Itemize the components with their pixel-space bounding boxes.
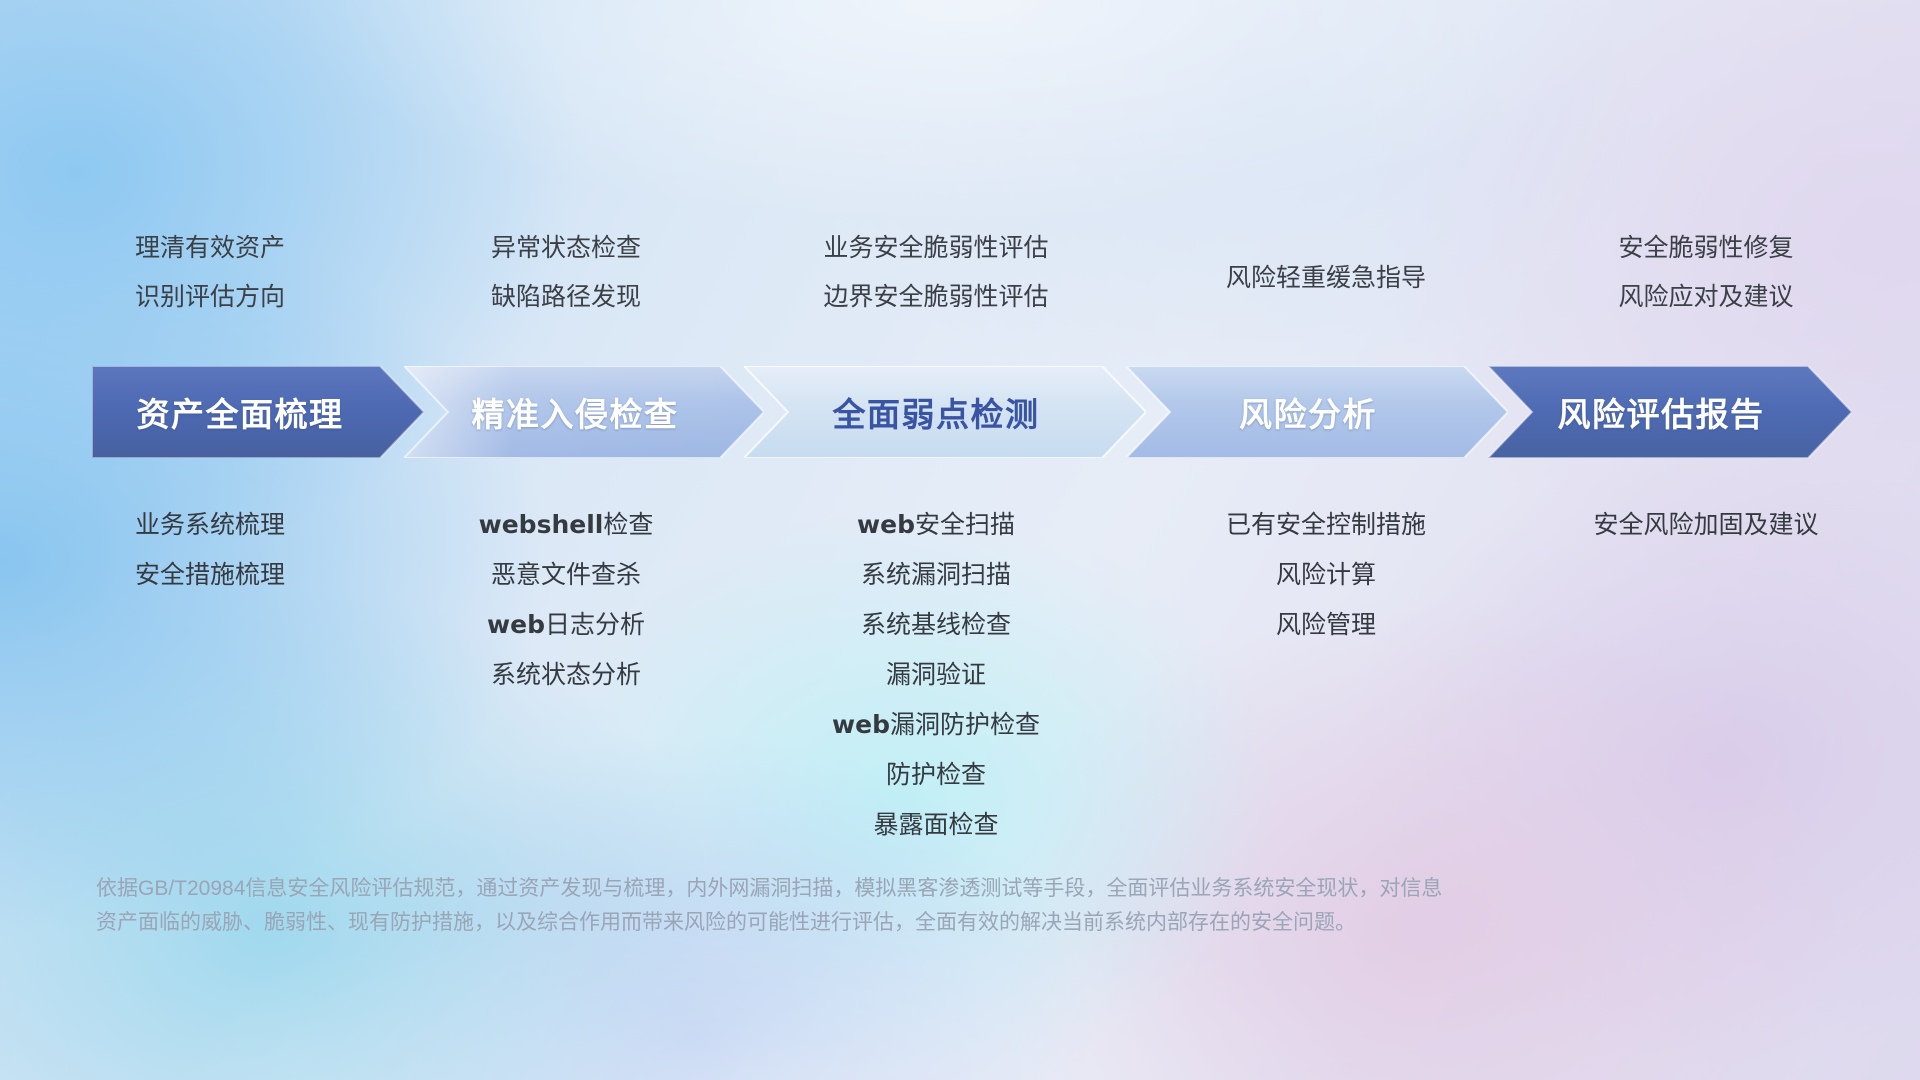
top-label: 异常状态检查 <box>396 224 736 273</box>
bottom-labels-stage-3: web安全扫描 系统漏洞扫描 系统基线检查 漏洞验证 web漏洞防护检查 防护检… <box>736 500 1136 850</box>
top-label: 边界安全脆弱性评估 <box>736 273 1136 322</box>
top-labels-stage-2: 异常状态检查 缺陷路径发现 <box>396 224 736 322</box>
list-item: 漏洞验证 <box>736 650 1136 700</box>
list-item: 系统漏洞扫描 <box>736 550 1136 600</box>
stage-chevron-3[interactable]: 全面弱点检测 <box>744 366 1146 458</box>
list-item: 防护检查 <box>736 750 1136 800</box>
process-diagram: 理清有效资产 识别评估方向 异常状态检查 缺陷路径发现 业务安全脆弱性评估 边界… <box>0 0 1920 1080</box>
top-labels-stage-1: 理清有效资产 识别评估方向 <box>24 224 396 322</box>
top-label: 识别评估方向 <box>24 273 396 322</box>
list-item: 风险计算 <box>1136 550 1516 600</box>
stage-title: 精准入侵检查 <box>472 388 679 436</box>
list-item: web漏洞防护检查 <box>736 700 1136 750</box>
bottom-labels-stage-5: 安全风险加固及建议 <box>1516 500 1896 550</box>
stage-title: 风险分析 <box>1239 388 1377 436</box>
bottom-label-row: 业务系统梳理 安全措施梳理 webshell检查 恶意文件查杀 web日志分析 … <box>0 500 1920 850</box>
stage-chevron-5[interactable]: 风险评估报告 <box>1488 366 1852 458</box>
list-item: 风险管理 <box>1136 600 1516 650</box>
top-labels-stage-4: 风险轻重缓急指导 <box>1136 224 1516 322</box>
top-label: 缺陷路径发现 <box>396 273 736 322</box>
top-labels-stage-5: 安全脆弱性修复 风险应对及建议 <box>1516 224 1896 322</box>
stage-title: 风险评估报告 <box>1558 388 1765 436</box>
list-item: web安全扫描 <box>736 500 1136 550</box>
stage-chevron-1[interactable]: 资产全面梳理 <box>92 366 424 458</box>
bottom-labels-stage-2: webshell检查 恶意文件查杀 web日志分析 系统状态分析 <box>396 500 736 700</box>
footer-line: 资产面临的威胁、脆弱性、现有防护措施，以及综合作用而带来风险的可能性进行评估，全… <box>96 906 1656 940</box>
stage-chevron-2[interactable]: 精准入侵检查 <box>404 366 764 458</box>
top-label: 风险轻重缓急指导 <box>1136 254 1516 303</box>
footer-description: 依据GB/T20984信息安全风险评估规范，通过资产发现与梳理，内外网漏洞扫描，… <box>96 872 1656 940</box>
stage-chevron-4[interactable]: 风险分析 <box>1126 366 1508 458</box>
top-label-row: 理清有效资产 识别评估方向 异常状态检查 缺陷路径发现 业务安全脆弱性评估 边界… <box>0 224 1920 322</box>
list-item: 恶意文件查杀 <box>396 550 736 600</box>
stage-title: 全面弱点检测 <box>833 388 1040 436</box>
list-item: 安全措施梳理 <box>24 550 396 600</box>
footer-line: 依据GB/T20984信息安全风险评估规范，通过资产发现与梳理，内外网漏洞扫描，… <box>96 872 1656 906</box>
list-item: web日志分析 <box>396 600 736 650</box>
list-item: 暴露面检查 <box>736 800 1136 850</box>
top-label: 安全脆弱性修复 <box>1516 224 1896 273</box>
top-label: 业务安全脆弱性评估 <box>736 224 1136 273</box>
top-label: 风险应对及建议 <box>1516 273 1896 322</box>
list-item: 业务系统梳理 <box>24 500 396 550</box>
top-label: 理清有效资产 <box>24 224 396 273</box>
bottom-labels-stage-4: 已有安全控制措施 风险计算 风险管理 <box>1136 500 1516 650</box>
list-item: 安全风险加固及建议 <box>1516 500 1896 550</box>
list-item: 已有安全控制措施 <box>1136 500 1516 550</box>
list-item: webshell检查 <box>396 500 736 550</box>
list-item: 系统状态分析 <box>396 650 736 700</box>
stage-title: 资产全面梳理 <box>137 388 344 436</box>
bottom-labels-stage-1: 业务系统梳理 安全措施梳理 <box>24 500 396 600</box>
list-item: 系统基线检查 <box>736 600 1136 650</box>
stage-chevron-band: 资产全面梳理 <box>92 366 1852 458</box>
top-labels-stage-3: 业务安全脆弱性评估 边界安全脆弱性评估 <box>736 224 1136 322</box>
